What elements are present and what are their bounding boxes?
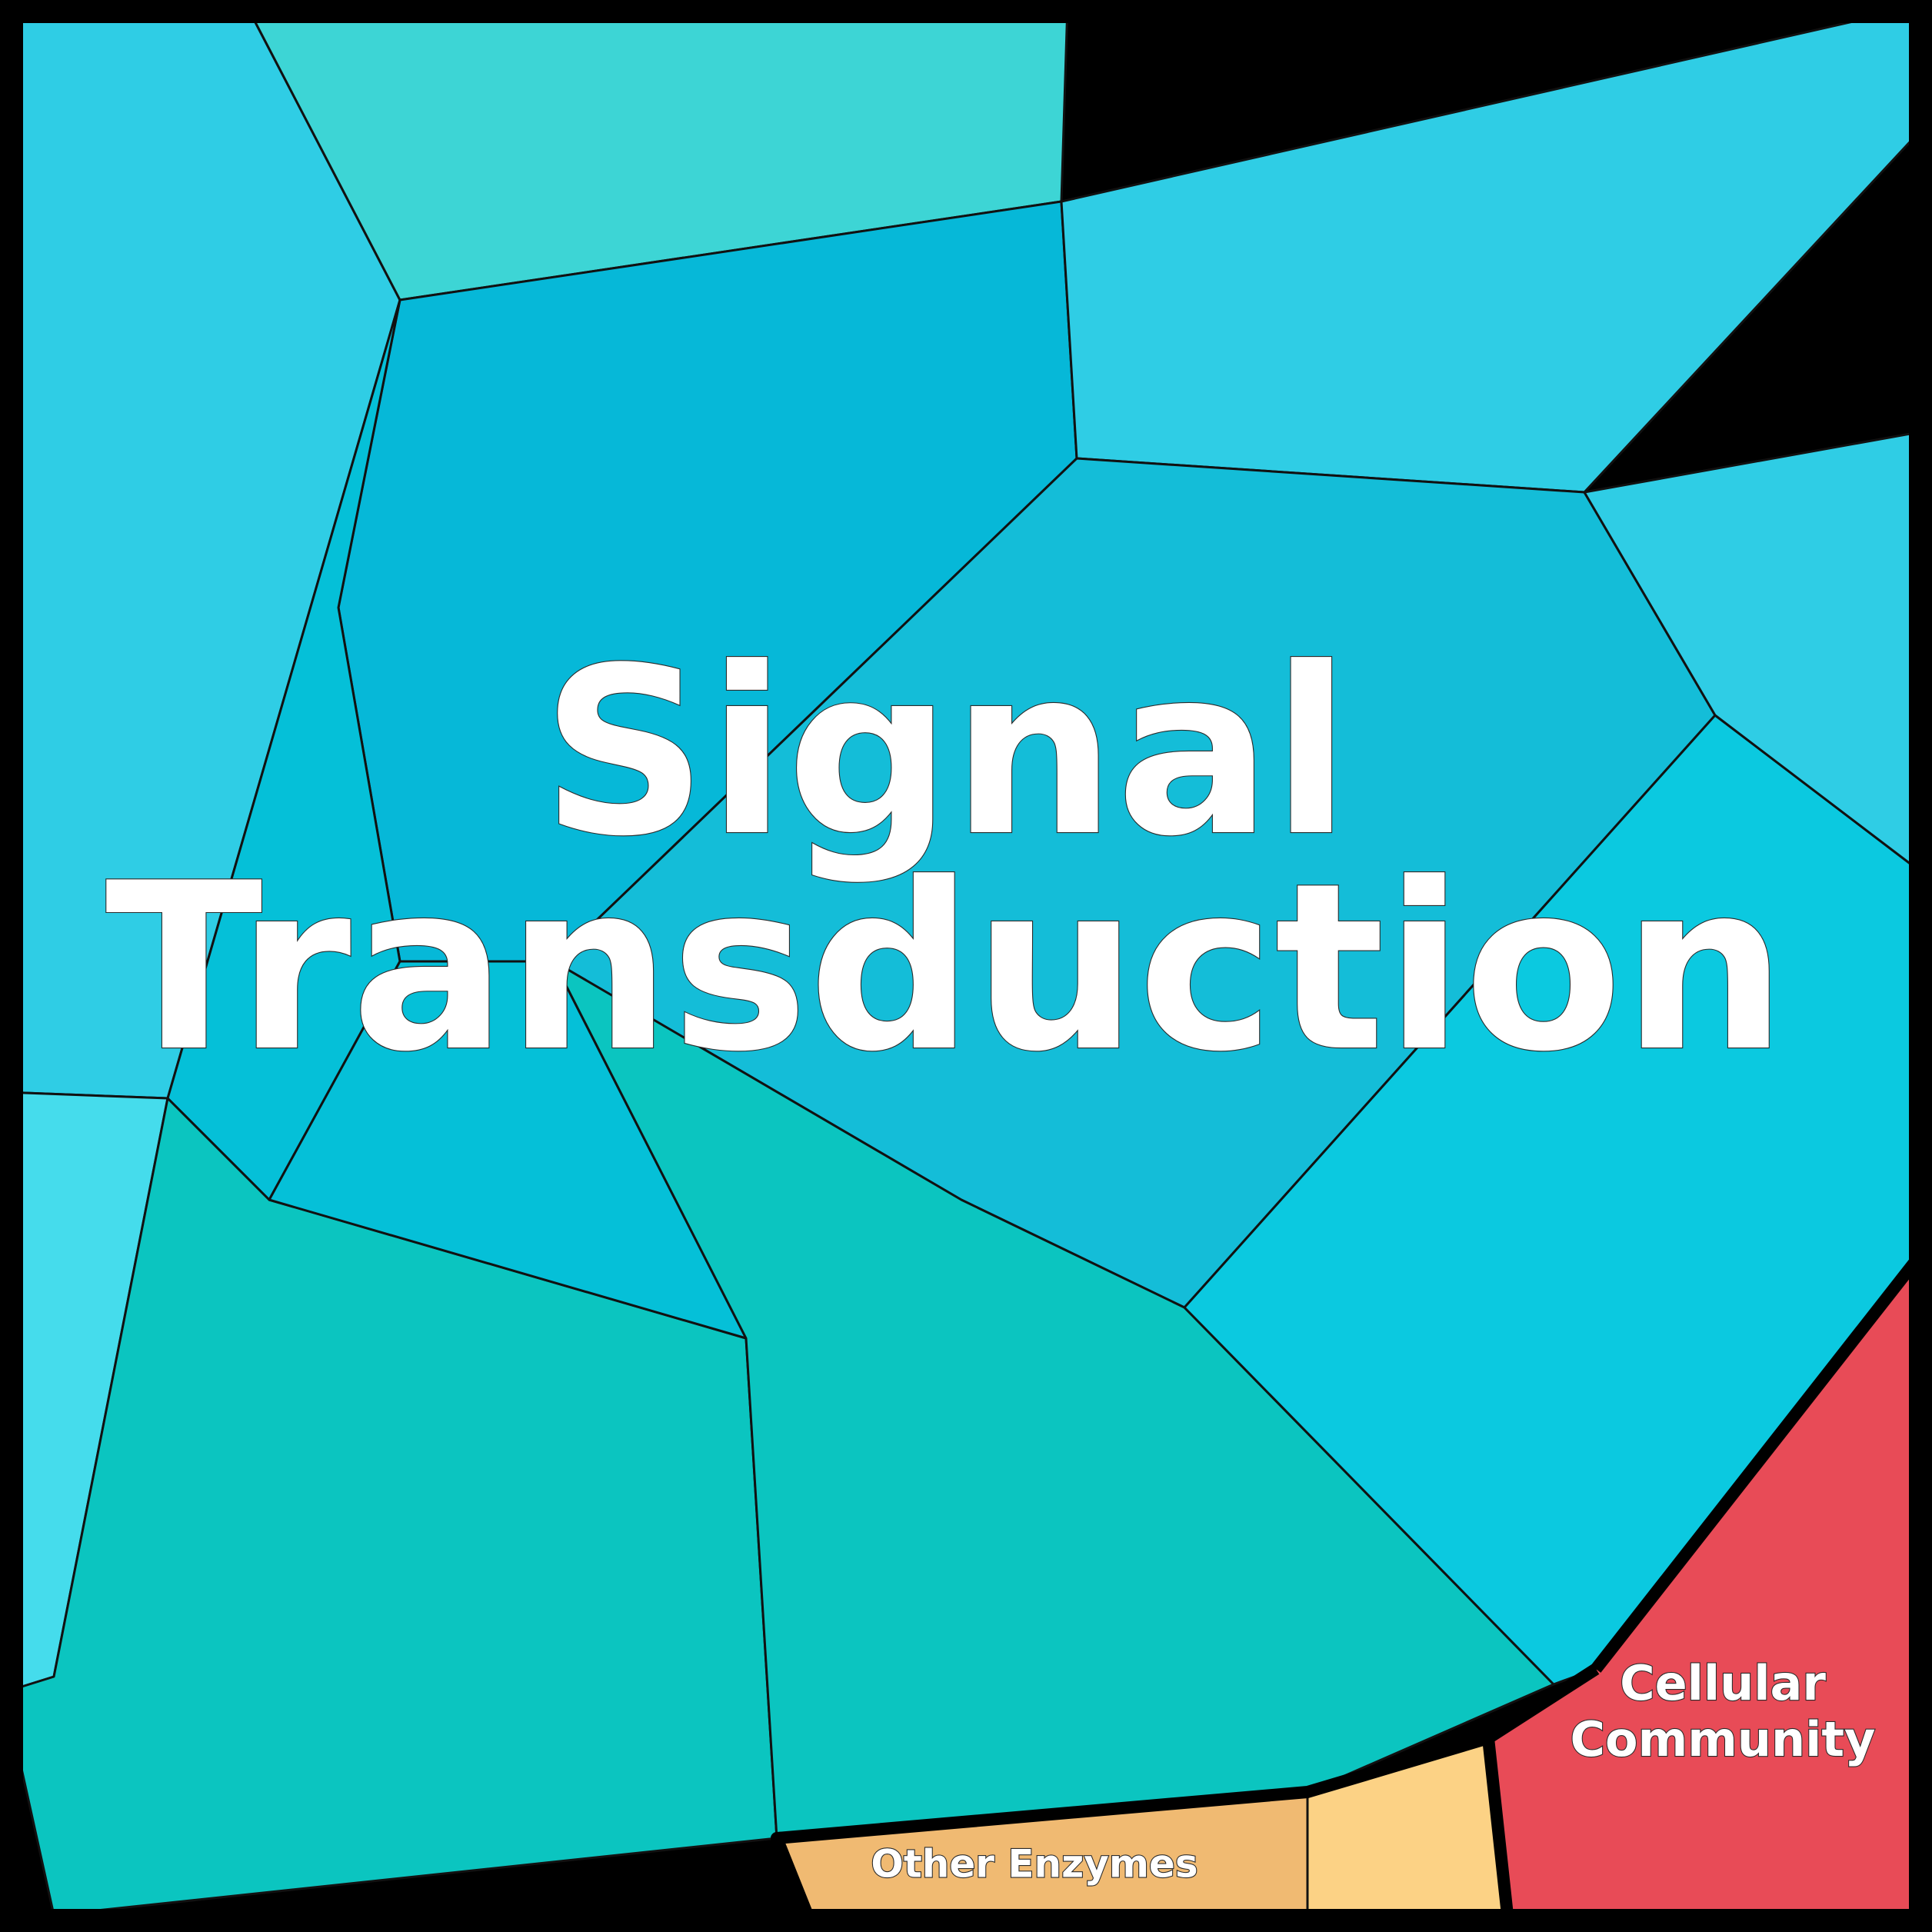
cellular-community-label-line-1: Cellular [1620,1655,1826,1711]
other-enzymes-label: Other Enzymes [871,1842,1198,1887]
voronoi-treemap-figure: Signal Transduction Cellular Community O… [0,0,1932,1932]
cellular-community-label-line-2: Community [1571,1711,1876,1767]
treemap-cell[interactable] [1061,5,1927,492]
title-line-2: Transduction [105,834,1787,1102]
voronoi-svg: Signal Transduction Cellular Community O… [0,0,1932,1932]
